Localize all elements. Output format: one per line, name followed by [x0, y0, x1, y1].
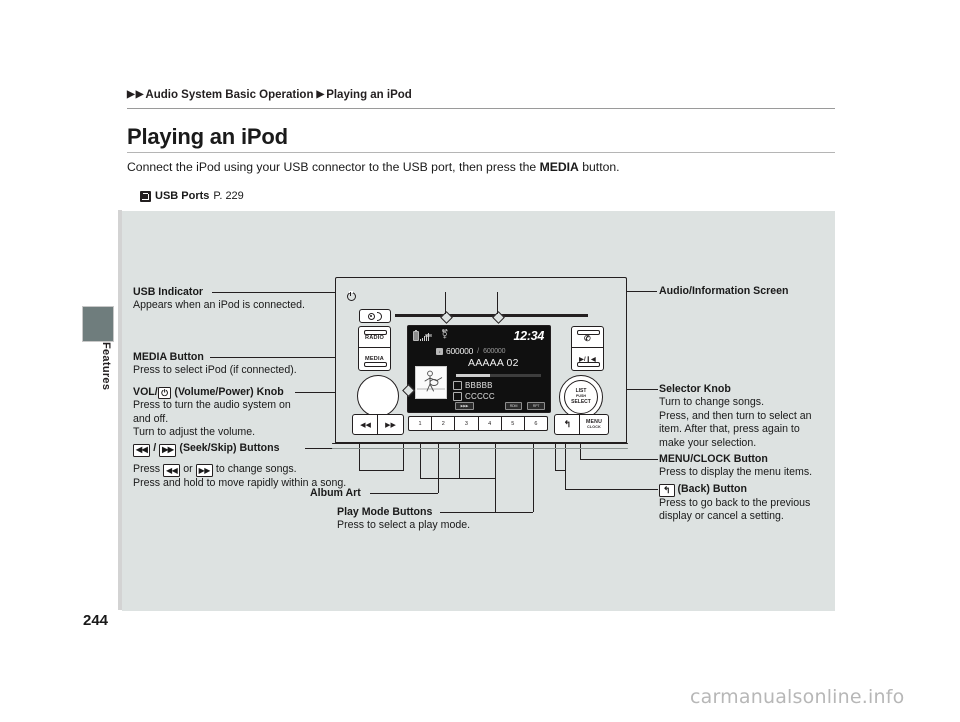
selector-knob-label-3: SELECT — [571, 400, 591, 405]
preset-button-5[interactable]: 5 — [501, 416, 525, 431]
media-button[interactable]: MEDIA — [358, 347, 391, 371]
clock-button-label: CLOCK — [587, 425, 601, 429]
album-art-guitarist-icon — [416, 367, 446, 398]
intro-text-after: button. — [579, 160, 620, 174]
annotation-back-button-heading: ↰ (Back) Button — [659, 483, 839, 497]
seek-next-icon: ▶▶ — [159, 444, 176, 457]
track-counter: ♪ 600000 / 600000 — [436, 346, 505, 356]
bluetooth-icon: ⚧ — [441, 330, 449, 339]
leader-play-mode-h2 — [420, 478, 495, 479]
screen-status-bar: RM — [413, 331, 432, 341]
play-button-highlight — [577, 362, 600, 367]
annotation-album-art-heading: Album Art — [310, 487, 361, 500]
leader-play-mode-h3 — [495, 512, 533, 513]
power-icon — [347, 292, 356, 301]
badge-repeat[interactable]: RPT — [527, 402, 545, 410]
watermark: carmanualsonline.info — [690, 686, 904, 708]
annotation-selector-knob-body-3: item. After that, press again to — [659, 423, 839, 436]
annotation-selector-knob: Selector Knob Turn to change songs. Pres… — [659, 383, 839, 450]
metadata-artist: BBBBB — [465, 381, 493, 390]
annotation-play-mode-body: Press to select a play mode. — [337, 519, 470, 532]
breadcrumb-separator: ▶ — [316, 90, 324, 100]
back-arrow-icon: ↰ — [659, 484, 675, 497]
seek-previous-button[interactable]: ◀◀ — [352, 414, 379, 435]
title-rule — [127, 152, 835, 153]
annotation-usb-indicator: USB Indicator Appears when an iPod is co… — [133, 286, 348, 313]
song-title: AAAAA 02 — [468, 357, 519, 369]
annotation-seek-skip: ◀◀ / ▶▶ (Seek/Skip) Buttons Press ◀◀ or … — [133, 442, 348, 490]
menu-clock-button[interactable]: MENU CLOCK — [579, 414, 609, 435]
breadcrumb-arrow-1: ▶ — [127, 90, 135, 100]
seek-body-b: or — [180, 463, 195, 475]
annotation-usb-indicator-body: Appears when an iPod is connected. — [133, 299, 348, 312]
seek-next-button[interactable]: ▶▶ — [377, 414, 404, 435]
play-pause-button[interactable]: ▶/❙◀ — [571, 347, 604, 371]
power-glyph-icon: ⏻ — [158, 387, 172, 399]
intro-paragraph: Connect the iPod using your USB connecto… — [127, 159, 687, 175]
seek-body-a: Press — [133, 463, 163, 475]
preset-buttons-row: 1 2 3 4 5 6 — [408, 416, 548, 431]
annotation-vol-knob-body-2: and off. — [133, 413, 348, 426]
progress-fill — [456, 374, 490, 377]
preset-button-3[interactable]: 3 — [454, 416, 478, 431]
seek-next-icon-inline: ▶▶ — [196, 464, 213, 477]
annotation-selector-knob-heading: Selector Knob — [659, 383, 839, 396]
seek-heading-tail: (Seek/Skip) Buttons — [176, 442, 279, 454]
badge-random[interactable]: RDM — [505, 402, 522, 410]
annotation-menu-clock-heading: MENU/CLOCK Button — [659, 453, 839, 466]
leader-usb-indicator — [212, 292, 345, 293]
section-tab-swatch — [82, 306, 114, 342]
leader-play-mode — [440, 512, 495, 513]
preset-button-4[interactable]: 4 — [478, 416, 502, 431]
annotation-vol-knob-body-1: Press to turn the audio system on — [133, 399, 348, 412]
annotation-menu-clock: MENU/CLOCK Button Press to display the m… — [659, 453, 839, 480]
artist-icon — [453, 381, 462, 390]
annotation-back-button: ↰ (Back) Button Press to go back to the … — [659, 483, 839, 523]
track-current: 600000 — [446, 346, 473, 356]
eject-icon[interactable] — [359, 309, 391, 323]
vol-heading-prefix: VOL/ — [133, 386, 158, 398]
annotation-seek-skip-heading: ◀◀ / ▶▶ (Seek/Skip) Buttons — [133, 442, 348, 457]
progress-bar[interactable] — [456, 374, 541, 377]
radio-button-highlight — [364, 330, 387, 335]
metadata-row-artist: BBBBB — [453, 381, 495, 390]
annotation-audio-screen-heading: Audio/Information Screen — [659, 285, 839, 298]
battery-icon — [413, 331, 419, 341]
annotation-back-button-body-2: display or cancel a setting. — [659, 510, 839, 523]
back-heading-tail: (Back) Button — [675, 483, 747, 495]
leader-album-art — [370, 493, 438, 494]
annotation-media-button-body: Press to select iPod (if connected). — [133, 364, 348, 377]
jump-arrow-icon — [140, 191, 151, 202]
metadata-row-album: CCCCC — [453, 392, 495, 401]
manual-page: ▶ ▶ Audio System Basic Operation ▶ Playi… — [0, 0, 960, 722]
metadata-album: CCCCC — [465, 392, 495, 401]
vol-heading-suffix: (Volume/Power) Knob — [171, 386, 283, 398]
badge-scan[interactable]: ▶▶▶ — [455, 402, 474, 410]
media-button-highlight — [364, 362, 387, 367]
leader-diamond-screen-v — [497, 292, 498, 314]
leader-back-h2 — [555, 470, 565, 471]
annotation-audio-screen: Audio/Information Screen — [659, 285, 839, 298]
seek-next-icon: ▶▶ — [385, 421, 396, 429]
page-title: Playing an iPod — [127, 124, 288, 150]
eject-dot-icon — [368, 313, 375, 320]
seek-prev-icon: ◀◀ — [133, 444, 150, 457]
back-icon: ↰ — [564, 419, 572, 430]
track-total: 600000 — [483, 348, 505, 355]
annotation-album-art: Album Art — [310, 487, 361, 500]
head-unit-illustration: RADIO MEDIA ✆ ▶/❙◀ VOL ◀◀ ▶▶ — [335, 277, 625, 457]
leader-diamond-usb-v — [445, 292, 446, 314]
annotation-seek-skip-body-1: Press ◀◀ or ▶▶ to change songs. — [133, 463, 348, 478]
screen-clock: 12:34 — [514, 329, 544, 343]
intro-text-before: Connect the iPod using your USB connecto… — [127, 160, 540, 174]
album-icon — [453, 392, 462, 401]
leader-back-button — [565, 489, 658, 490]
annotation-play-mode: Play Mode Buttons Press to select a play… — [337, 506, 470, 533]
header-rule — [127, 108, 835, 109]
eject-arc-icon — [377, 312, 382, 321]
annotation-media-button: MEDIA Button Press to select iPod (if co… — [133, 351, 348, 378]
leader-seek-h2 — [359, 470, 404, 471]
seek-previous-icon: ◀◀ — [360, 421, 371, 429]
preset-button-2[interactable]: 2 — [431, 416, 455, 431]
annotation-vol-knob: VOL/⏻ (Volume/Power) Knob Press to turn … — [133, 386, 348, 440]
track-note-icon: ♪ — [436, 348, 443, 355]
selector-knob-inner[interactable]: LIST PUSH SELECT — [564, 380, 598, 414]
seek-heading-sep: / — [150, 442, 159, 454]
annotation-selector-knob-body-4: make your selection. — [659, 437, 839, 450]
annotation-selector-knob-body-1: Turn to change songs. — [659, 396, 839, 409]
annotation-selector-knob-body-2: Press, and then turn to select an — [659, 410, 839, 423]
roaming-label: RM — [425, 334, 432, 338]
cross-reference[interactable]: USB Ports P. 229 — [140, 190, 244, 202]
intro-bold-media: MEDIA — [540, 160, 579, 174]
phone-button-highlight — [577, 330, 600, 335]
cross-reference-page: P. 229 — [213, 190, 243, 202]
breadcrumb-section: Audio System Basic Operation — [145, 89, 313, 101]
radio-button-label: RADIO — [365, 335, 384, 341]
annotation-menu-clock-body: Press to display the menu items. — [659, 466, 839, 479]
annotation-vol-knob-body-3: Turn to adjust the volume. — [133, 426, 348, 439]
audio-information-screen[interactable]: RM ⚧ 12:34 ♪ 600000 / 600000 AAAAA 02 — [407, 325, 551, 413]
cross-reference-label: USB Ports — [155, 190, 209, 202]
seek-body-c: to change songs. — [213, 463, 297, 475]
preset-button-1[interactable]: 1 — [408, 416, 432, 431]
breadcrumb: ▶ ▶ Audio System Basic Operation ▶ Playi… — [127, 89, 412, 101]
album-art — [415, 366, 447, 399]
volume-power-knob[interactable] — [357, 375, 399, 417]
page-number: 244 — [83, 612, 108, 629]
annotation-back-button-body-1: Press to go back to the previous — [659, 497, 839, 510]
preset-button-6[interactable]: 6 — [524, 416, 548, 431]
back-button[interactable]: ↰ — [554, 414, 581, 435]
screen-badges: ▶▶▶ RDM RPT — [455, 402, 545, 409]
breadcrumb-arrow-2: ▶ — [136, 90, 144, 100]
track-slash: / — [477, 348, 479, 355]
section-tab-label: Features — [82, 342, 112, 390]
seek-prev-icon-inline: ◀◀ — [163, 464, 180, 477]
track-metadata: BBBBB CCCCC — [453, 381, 495, 401]
breadcrumb-current: Playing an iPod — [326, 89, 412, 101]
